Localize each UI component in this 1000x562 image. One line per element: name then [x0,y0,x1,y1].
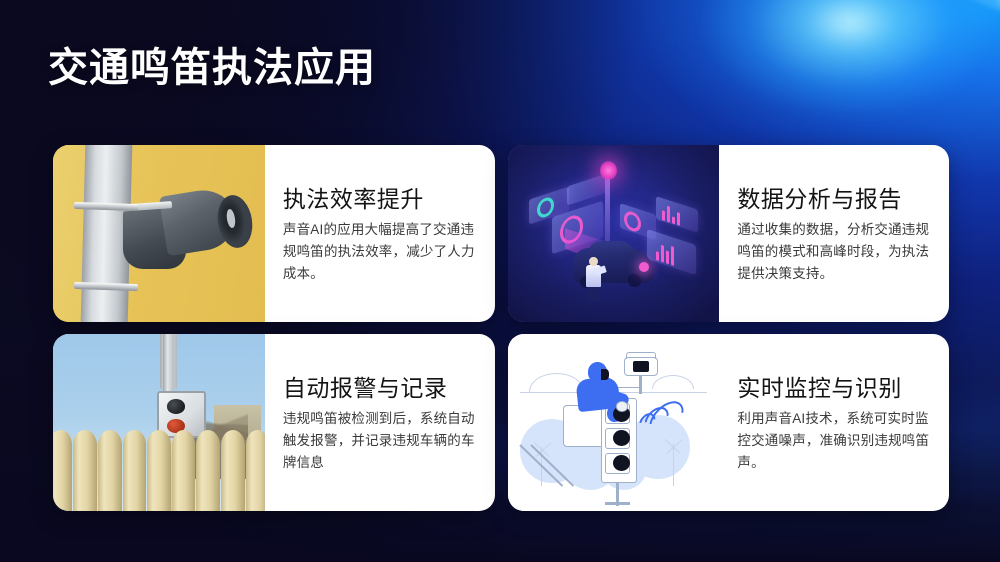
isometric-data-dashboard-illustration [508,145,720,322]
feature-card-4[interactable]: 实时监控与识别 利用声音AI技术，系统可实时监控交通噪声，准确识别违规鸣笛声。 [508,334,950,511]
traffic-light-glow [600,161,617,180]
feature-card-3[interactable]: 自动报警与记录 违规鸣笛被检测到后，系统自动触发报警，并记录违规车辆的车牌信息 [53,334,495,511]
camera-lens [633,361,650,372]
car-wheel [628,274,641,286]
card-heading: 自动报警与记录 [283,375,481,401]
card-heading: 执法效率提升 [283,186,481,212]
camera-hood [626,352,656,359]
cloud-outline [652,375,694,389]
camera-post [639,373,642,394]
feature-card-1[interactable]: 执法效率提升 声音AI的应用大幅提高了交通违规鸣笛的执法效率，减少了人力成本。 [53,145,495,322]
feature-card-2[interactable]: 数据分析与报告 通过收集的数据，分析交通违规鸣笛的模式和高峰时段，为执法提供决策… [508,145,950,322]
card-body: 自动报警与记录 违规鸣笛被检测到后，系统自动触发报警，并记录违规车辆的车牌信息 [265,334,495,511]
card-description: 声音AI的应用大幅提高了交通违规鸣笛的执法效率，减少了人力成本。 [283,219,481,285]
car-roof [588,241,635,259]
worker-hand [616,401,629,412]
traffic-enforcement-camera-photo [53,334,265,511]
camera-arm [616,387,641,388]
card-description: 通过收集的数据，分析交通违规鸣笛的模式和高峰时段，为执法提供决策支持。 [737,219,935,285]
cloud-outline [529,373,584,392]
worker-face [601,369,609,380]
worker-traffic-light-lineart-illustration [508,334,720,511]
card-heading: 数据分析与报告 [737,186,935,212]
person-head [589,257,597,267]
loudspeaker-on-pole-photo [53,145,265,322]
traffic-light-base [605,502,630,505]
card-body: 数据分析与报告 通过收集的数据，分析交通违规鸣笛的模式和高峰时段，为执法提供决策… [719,145,949,322]
card-description: 利用声音AI技术，系统可实时监控交通噪声，准确识别违规鸣笛声。 [737,408,935,474]
card-body: 执法效率提升 声音AI的应用大幅提高了交通违规鸣笛的执法效率，减少了人力成本。 [265,145,495,322]
card-heading: 实时监控与识别 [737,375,935,401]
camera-lens [167,399,185,413]
tree-outline [673,444,674,486]
card-description: 违规鸣笛被检测到后，系统自动触发报警，并记录违规车辆的车牌信息 [283,408,481,474]
card-body: 实时监控与识别 利用声音AI技术，系统可实时监控交通噪声，准确识别违规鸣笛声。 [719,334,949,511]
person-legs [588,285,599,301]
road-barriers [53,430,265,511]
feature-card-grid: 执法效率提升 声音AI的应用大幅提高了交通违规鸣笛的执法效率，减少了人力成本。 [53,145,949,511]
page-title: 交通鸣笛执法应用 [48,44,376,92]
